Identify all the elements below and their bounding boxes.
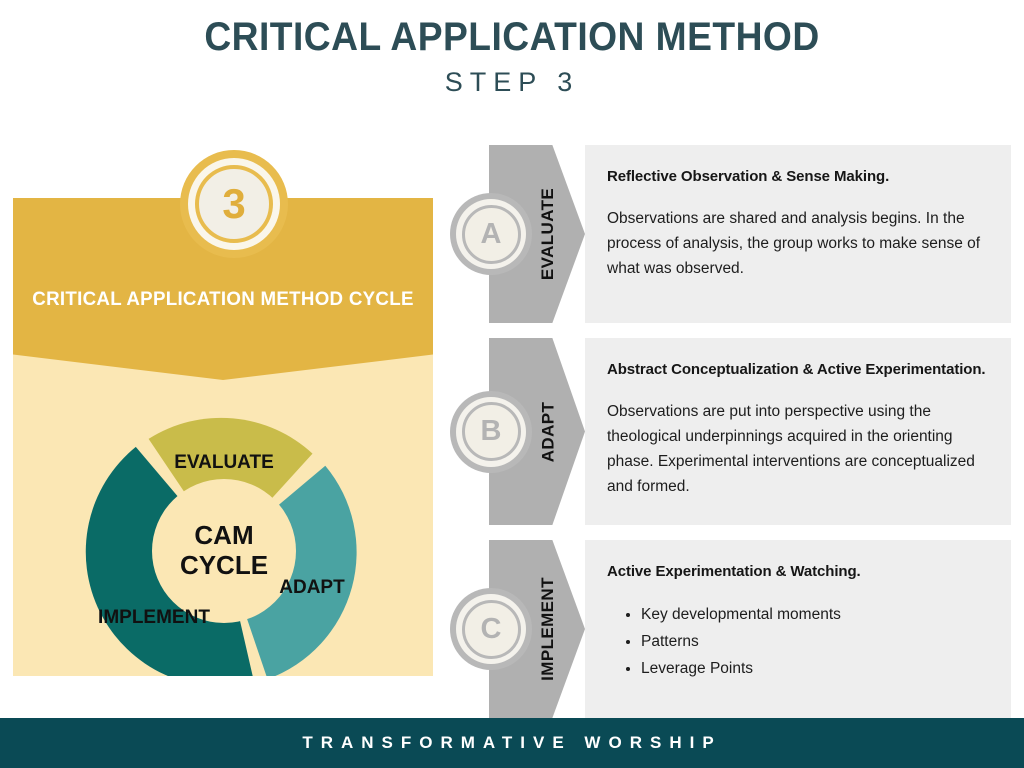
donut-label-adapt: ADAPT xyxy=(279,577,345,598)
phase-badge-a-inner: A xyxy=(462,205,521,264)
phase-panel-evaluate: Reflective Observation & Sense Making. O… xyxy=(585,145,1011,323)
phase-rows: EVALUATE A Reflective Observation & Sens… xyxy=(489,142,1011,718)
phase-row-evaluate[interactable]: EVALUATE A Reflective Observation & Sens… xyxy=(489,145,1011,323)
phase-row-adapt[interactable]: ADAPT B Abstract Conceptualization & Act… xyxy=(489,338,1011,525)
donut-hub-line1: CAM xyxy=(194,520,253,550)
phase-heading-evaluate: Reflective Observation & Sense Making. xyxy=(607,167,993,187)
page-title: CRITICAL APPLICATION METHOD xyxy=(36,14,988,61)
phase-badge-a-ring: A xyxy=(456,199,526,269)
donut-label-evaluate: EVALUATE xyxy=(174,452,274,473)
phase-panel-implement: Active Experimentation & Watching. Key d… xyxy=(585,540,1011,718)
phase-badge-b-ring: B xyxy=(456,397,526,467)
donut-hub-line2: CYCLE xyxy=(180,550,268,580)
phase-badge-a: A xyxy=(450,193,532,275)
phase-row-implement[interactable]: IMPLEMENT C Active Experimentation & Wat… xyxy=(489,540,1011,718)
donut-svg: EVALUATE ADAPT IMPLEMENT CAM CYCLE xyxy=(63,396,385,676)
phase-badge-c-letter: C xyxy=(481,615,502,644)
list-item: Leverage Points xyxy=(641,656,993,682)
footer-bar: TRANSFORMATIVE WORSHIP xyxy=(0,718,1024,768)
phase-body-evaluate: Observations are shared and analysis beg… xyxy=(607,206,993,281)
phase-heading-implement: Active Experimentation & Watching. xyxy=(607,562,993,582)
cycle-card-title: CRITICAL APPLICATION METHOD CYCLE xyxy=(21,286,424,313)
step-badge-outer-ring: 3 xyxy=(188,158,280,250)
phase-body-adapt: Observations are put into perspective us… xyxy=(607,399,993,499)
phase-badge-b: B xyxy=(450,391,532,473)
phase-badge-b-inner: B xyxy=(462,402,521,461)
step-badge-inner-circle: 3 xyxy=(195,165,273,243)
content-stage: CRITICAL APPLICATION METHOD CYCLE EVALUA… xyxy=(0,142,1024,718)
footer-brand-text: TRANSFORMATIVE WORSHIP xyxy=(302,733,721,753)
phase-badge-b-letter: B xyxy=(481,417,502,446)
page-header: CRITICAL APPLICATION METHOD STEP 3 xyxy=(0,0,1024,98)
step-number-badge: 3 xyxy=(180,150,288,258)
step-badge-number: 3 xyxy=(222,183,245,225)
list-item: Patterns xyxy=(641,629,993,655)
phase-badge-c: C xyxy=(450,588,532,670)
phase-bullet-list-implement: Key developmental momentsPatternsLeverag… xyxy=(607,602,993,682)
phase-badge-c-inner: C xyxy=(462,600,521,659)
list-item: Key developmental moments xyxy=(641,602,993,628)
phase-badge-a-letter: A xyxy=(481,220,502,249)
phase-panel-adapt: Abstract Conceptualization & Active Expe… xyxy=(585,338,1011,525)
phase-badge-c-ring: C xyxy=(456,594,526,664)
phase-heading-adapt: Abstract Conceptualization & Active Expe… xyxy=(607,360,993,380)
cam-cycle-donut-chart: EVALUATE ADAPT IMPLEMENT CAM CYCLE xyxy=(63,396,385,676)
page-subtitle: STEP 3 xyxy=(0,67,1024,98)
cam-cycle-card: CRITICAL APPLICATION METHOD CYCLE EVALUA… xyxy=(13,198,433,676)
donut-label-implement: IMPLEMENT xyxy=(98,607,210,628)
